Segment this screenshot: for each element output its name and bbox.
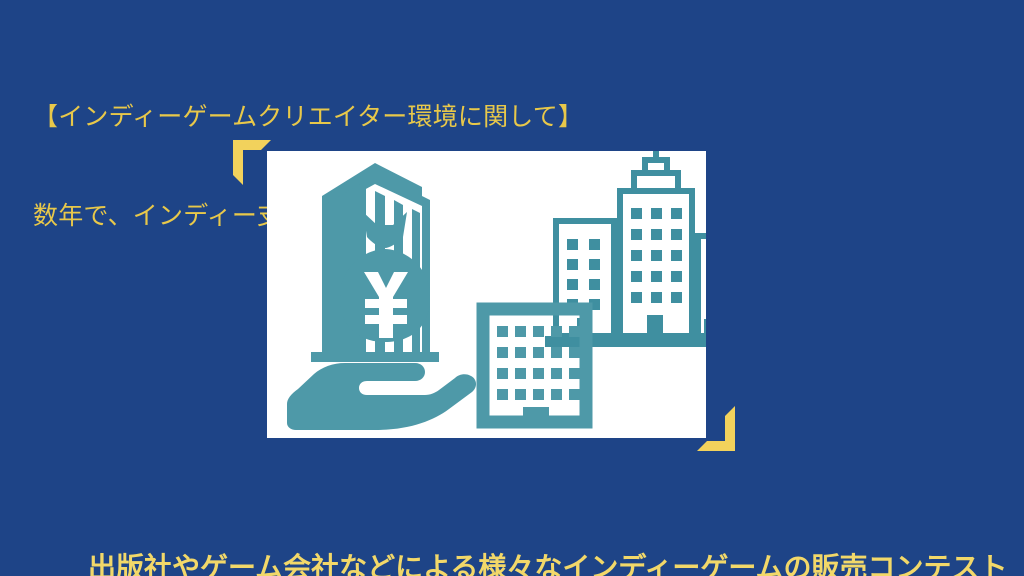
illustration-card [267, 151, 706, 438]
funding-illustration [267, 151, 706, 438]
caption-text: 出版社やゲーム会社などによる様々なインディーゲームの販売コンテスト やパブリッシ… [88, 475, 988, 576]
money-bag-in-hand-icon [287, 212, 476, 430]
caption-line-1: 出版社やゲーム会社などによる様々なインディーゲームの販売コンテスト [88, 549, 988, 576]
office-building-icon [483, 309, 586, 422]
headline-line-1: 【インディーゲームクリエイター環境に関して】 [33, 101, 753, 134]
city-skyline-details [545, 151, 706, 347]
slide-canvas: 【インディーゲームクリエイター環境に関して】 数年で、インディー支援プログラムが… [0, 0, 1024, 576]
